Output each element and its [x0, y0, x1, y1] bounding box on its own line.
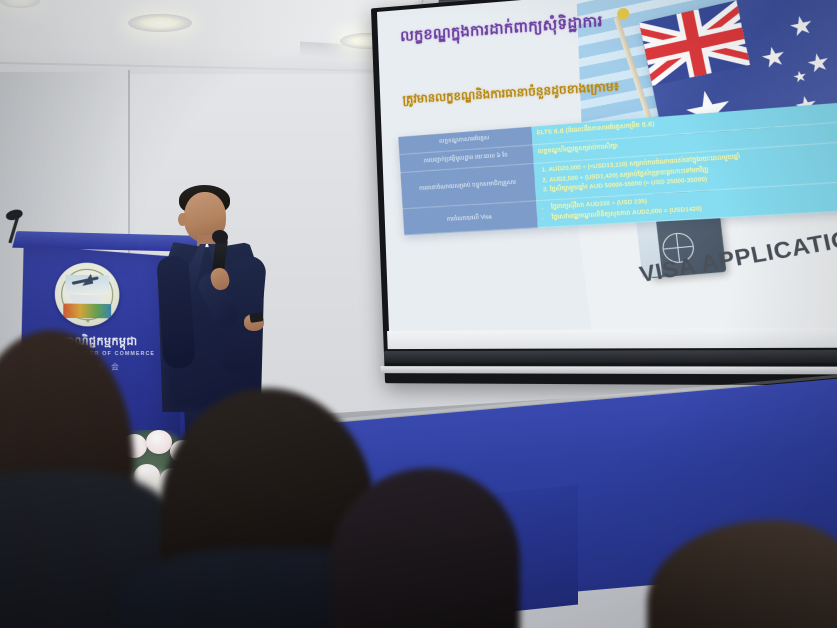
screen-surface: PASSPORT VISA APPLICATION លក្ខខណ្ឌក្នុងក…: [377, 0, 837, 331]
presentation-room-photo: PASSPORT VISA APPLICATION លក្ខខណ្ឌក្នុងក…: [0, 0, 837, 628]
ceiling-downlight-icon: [128, 14, 192, 32]
southern-cross-star-icon: [760, 44, 787, 70]
southern-cross-star-icon: [792, 69, 807, 83]
southern-cross-star-icon: [788, 14, 814, 39]
emblem-ship-icon: [69, 294, 104, 304]
chamber-of-commerce-emblem-icon: [55, 262, 120, 326]
screen-roller-bar: [384, 350, 837, 363]
rose-icon: [146, 430, 172, 454]
emblem-field: [63, 304, 111, 319]
screen-bottom-margin: [387, 327, 837, 349]
southern-cross-star-icon: [806, 51, 831, 75]
speaker-ear: [178, 213, 187, 226]
screen-bottom-rod: [380, 366, 837, 374]
ceiling-downlight-icon: [0, 0, 40, 8]
projection-screen: PASSPORT VISA APPLICATION លក្ខខណ្ឌក្នុងក…: [371, 0, 837, 386]
emblem-star-icon: [85, 318, 90, 323]
